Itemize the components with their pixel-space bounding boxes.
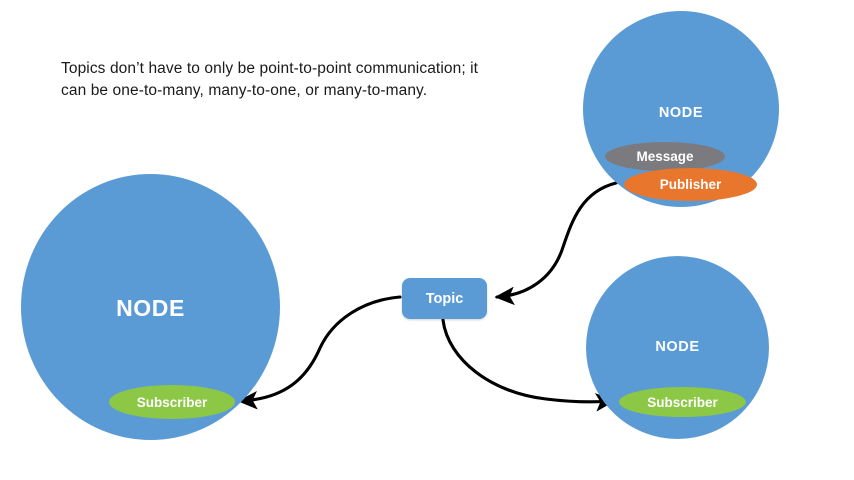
arrow-publisher-to-topic bbox=[497, 183, 616, 297]
subscriber-bottom-right-label: Subscriber bbox=[647, 395, 718, 410]
node-left[interactable]: NODE Subscriber bbox=[21, 174, 280, 440]
topic-label: Topic bbox=[426, 291, 464, 307]
message-label: Message bbox=[636, 149, 693, 164]
subscriber-pill-bottom-right[interactable]: Subscriber bbox=[619, 387, 746, 417]
subscriber-left-label: Subscriber bbox=[137, 395, 208, 410]
node-bottom-right[interactable]: NODE Subscriber bbox=[586, 256, 769, 439]
subscriber-pill-left[interactable]: Subscriber bbox=[109, 385, 235, 419]
message-pill[interactable]: Message bbox=[605, 142, 725, 171]
slide-canvas: Topics don’t have to only be point-to-po… bbox=[0, 0, 854, 480]
node-bottom-right-label: NODE bbox=[586, 339, 769, 355]
node-top-right-label: NODE bbox=[583, 105, 779, 121]
caption-text: Topics don’t have to only be point-to-po… bbox=[61, 58, 481, 103]
topic-box[interactable]: Topic bbox=[402, 278, 487, 319]
publisher-pill[interactable]: Publisher bbox=[624, 168, 757, 201]
node-top-right[interactable]: NODE Message Publisher bbox=[583, 11, 779, 207]
publisher-label: Publisher bbox=[660, 177, 722, 192]
node-left-label: NODE bbox=[21, 295, 280, 322]
